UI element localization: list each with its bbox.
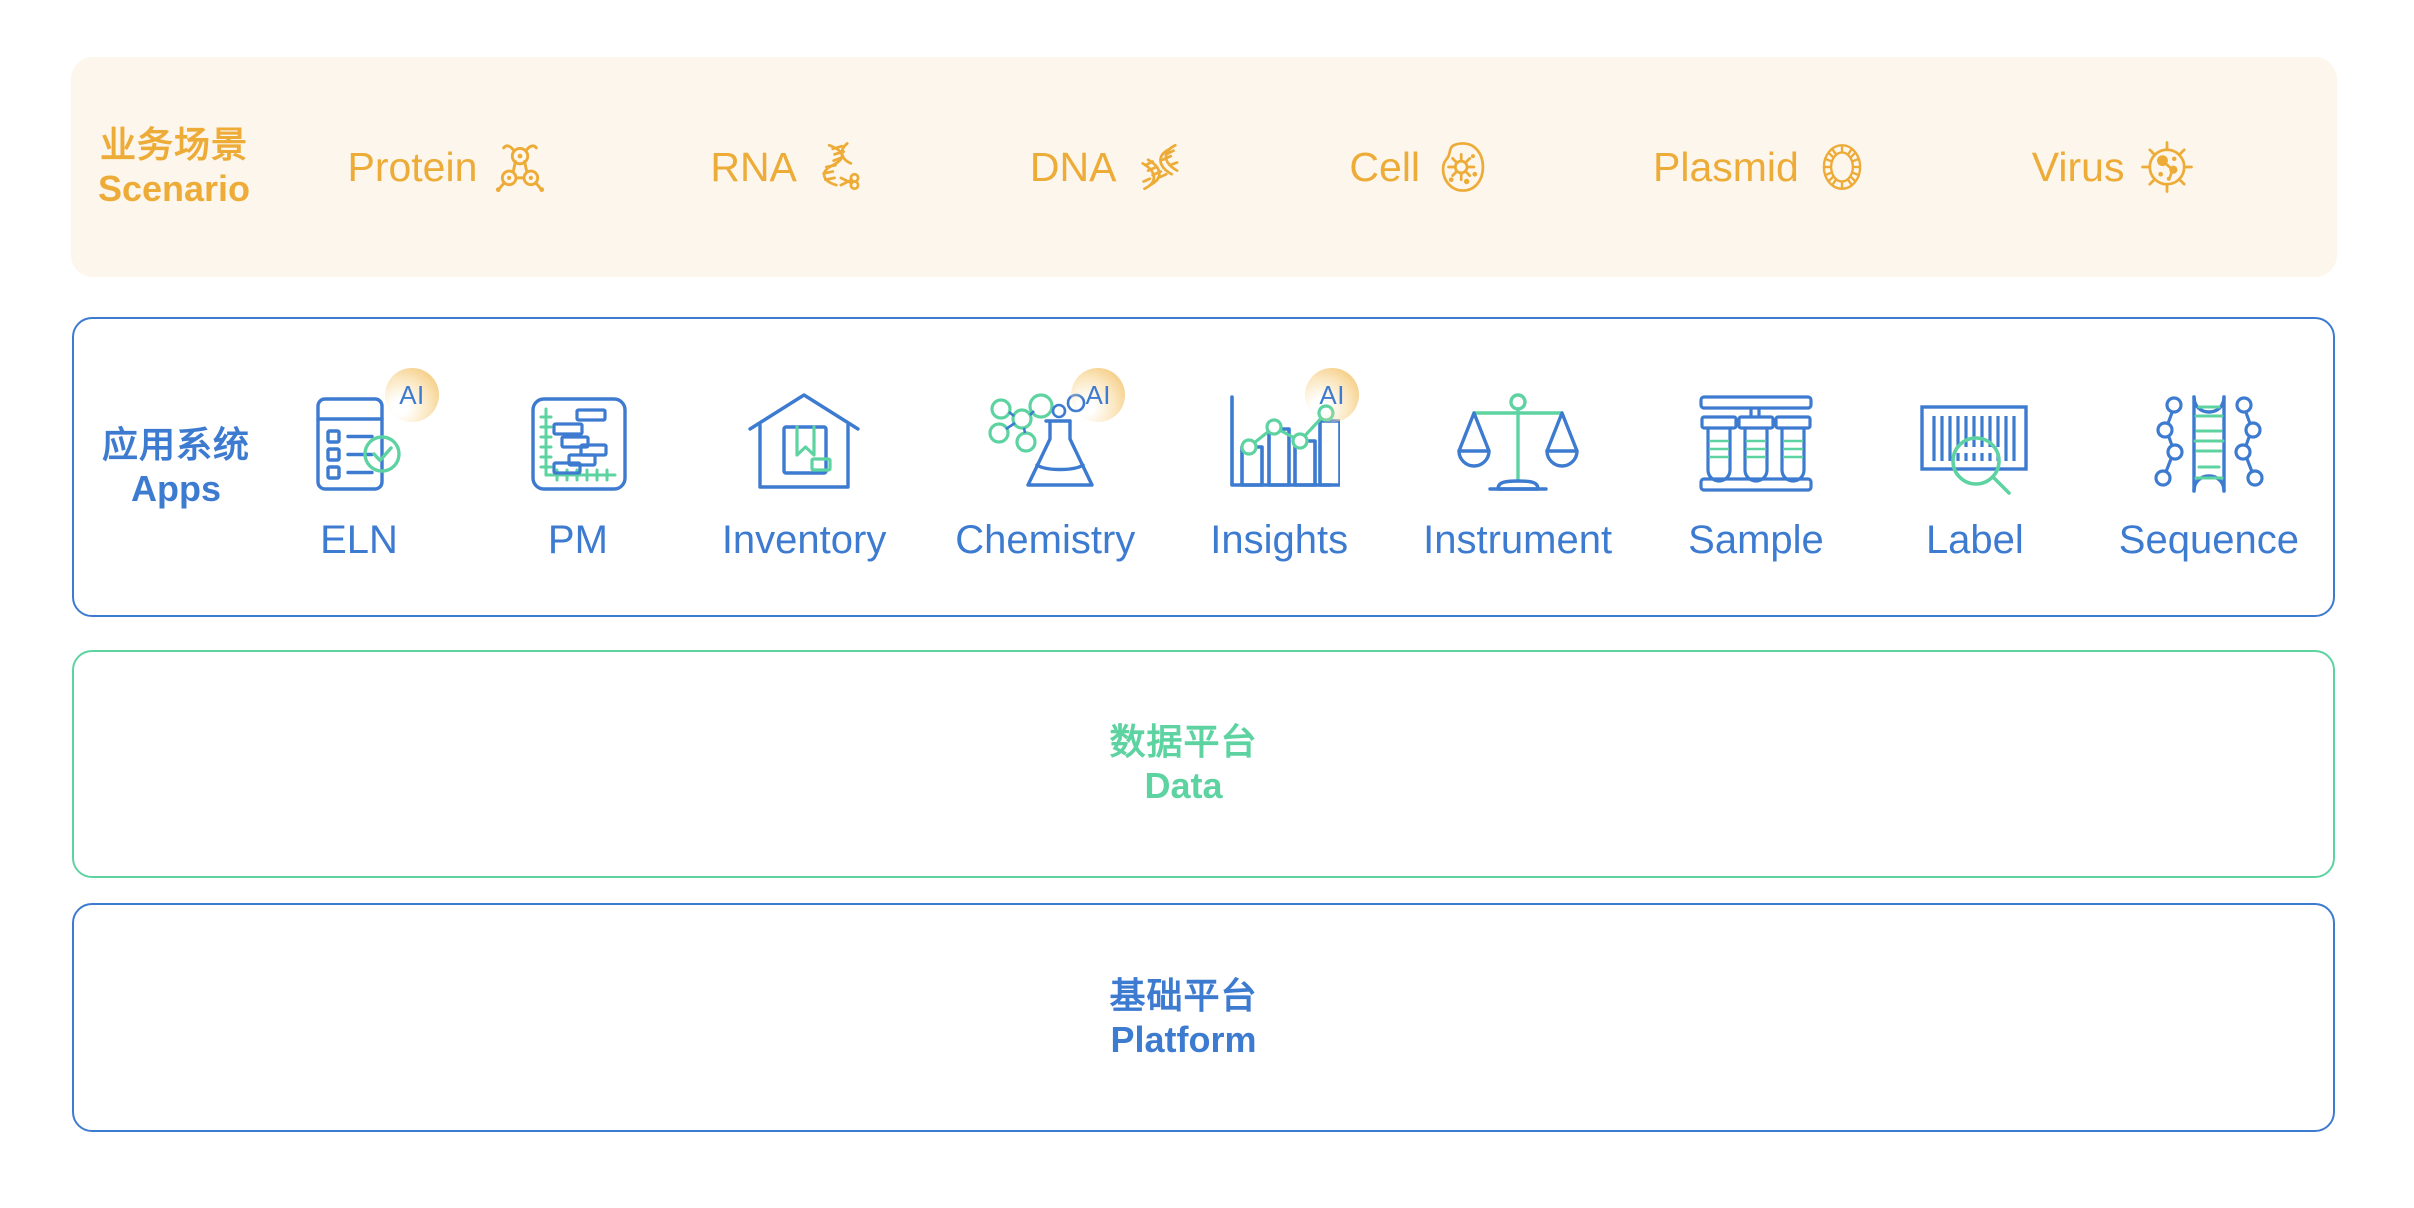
scenario-title-cn: 业务场景: [81, 123, 267, 167]
balance-scale-icon: [1457, 385, 1579, 503]
virus-icon: [2138, 138, 2196, 196]
warehouse-box-icon: [742, 385, 866, 503]
test-tube-rack-icon: [1695, 385, 1817, 503]
app-item-label: Sequence: [2119, 520, 2299, 560]
data-layer-band: 数据平台 Data: [72, 650, 2335, 878]
gantt-chart-icon: [519, 385, 637, 503]
app-icon-wrap: AI: [975, 374, 1115, 514]
apps-band: 应用系统 Apps: [72, 317, 2335, 617]
app-item-label: Sample: [1688, 520, 1824, 560]
barcode-search-icon: [1914, 385, 2036, 503]
rna-icon: [811, 138, 869, 196]
platform-layer-title: 基础平台 Platform: [1109, 974, 1257, 1062]
dna-helix-icon: [2148, 385, 2270, 503]
scenario-item-list: Protein: [267, 138, 2337, 196]
app-item-chemistry[interactable]: AI Chemistry: [955, 374, 1135, 560]
app-icon-wrap: [734, 374, 874, 514]
platform-layer-title-en: Platform: [1109, 1018, 1257, 1062]
data-layer-title-cn: 数据平台: [1109, 720, 1257, 764]
app-icon-wrap: [1448, 374, 1588, 514]
ai-badge: AI: [1305, 368, 1359, 422]
app-item-label: PM: [548, 520, 608, 560]
apps-title-en: Apps: [82, 467, 270, 511]
app-item-inventory[interactable]: Inventory: [722, 374, 887, 560]
scenario-title: 业务场景 Scenario: [71, 123, 267, 211]
app-item-label: Chemistry: [955, 520, 1135, 560]
app-item-eln[interactable]: AI ELN: [284, 374, 434, 560]
scenario-item-protein[interactable]: Protein: [347, 138, 549, 196]
app-item-label[interactable]: Label: [1900, 374, 2050, 560]
scenario-item-plasmid[interactable]: Plasmid: [1653, 138, 1871, 196]
platform-layer-band: 基础平台 Platform: [72, 903, 2335, 1132]
plasmid-icon: [1813, 138, 1871, 196]
app-icon-wrap: [1686, 374, 1826, 514]
app-icon-wrap: AI: [1209, 374, 1349, 514]
app-item-label: Label: [1926, 520, 2024, 560]
app-item-instrument[interactable]: Instrument: [1423, 374, 1612, 560]
scenario-item-label: Cell: [1349, 144, 1420, 191]
app-item-sequence[interactable]: Sequence: [2119, 374, 2299, 560]
scenario-band: 业务场景 Scenario Protein: [71, 57, 2337, 277]
scenario-item-cell[interactable]: Cell: [1349, 138, 1492, 196]
cell-icon: [1434, 138, 1492, 196]
app-item-sample[interactable]: Sample: [1681, 374, 1831, 560]
app-item-label: Instrument: [1423, 520, 1612, 560]
scenario-item-dna[interactable]: DNA: [1030, 138, 1189, 196]
app-icon-wrap: [2139, 374, 2279, 514]
scenario-item-label: RNA: [710, 144, 797, 191]
scenario-item-label: Virus: [2032, 144, 2125, 191]
scenario-item-rna[interactable]: RNA: [710, 138, 869, 196]
app-icon-wrap: [508, 374, 648, 514]
ai-badge: AI: [1071, 368, 1125, 422]
scenario-item-label: Protein: [347, 144, 477, 191]
dna-icon: [1130, 138, 1188, 196]
apps-item-list: AI ELN: [270, 374, 2333, 560]
scenario-item-virus[interactable]: Virus: [2032, 138, 2197, 196]
app-icon-wrap: AI: [289, 374, 429, 514]
app-item-pm[interactable]: PM: [503, 374, 653, 560]
scenario-title-en: Scenario: [81, 167, 267, 211]
app-icon-wrap: [1905, 374, 2045, 514]
ai-badge: AI: [385, 368, 439, 422]
app-item-insights[interactable]: AI Insights: [1204, 374, 1354, 560]
data-layer-title: 数据平台 Data: [1109, 720, 1257, 808]
protein-icon: [491, 138, 549, 196]
apps-title: 应用系统 Apps: [74, 423, 270, 511]
platform-layer-title-cn: 基础平台: [1109, 974, 1257, 1018]
scenario-item-label: DNA: [1030, 144, 1117, 191]
app-item-label: Insights: [1210, 520, 1348, 560]
app-item-label: Inventory: [722, 520, 887, 560]
apps-title-cn: 应用系统: [82, 423, 270, 467]
scenario-item-label: Plasmid: [1653, 144, 1799, 191]
app-item-label: ELN: [320, 520, 398, 560]
data-layer-title-en: Data: [1109, 764, 1257, 808]
